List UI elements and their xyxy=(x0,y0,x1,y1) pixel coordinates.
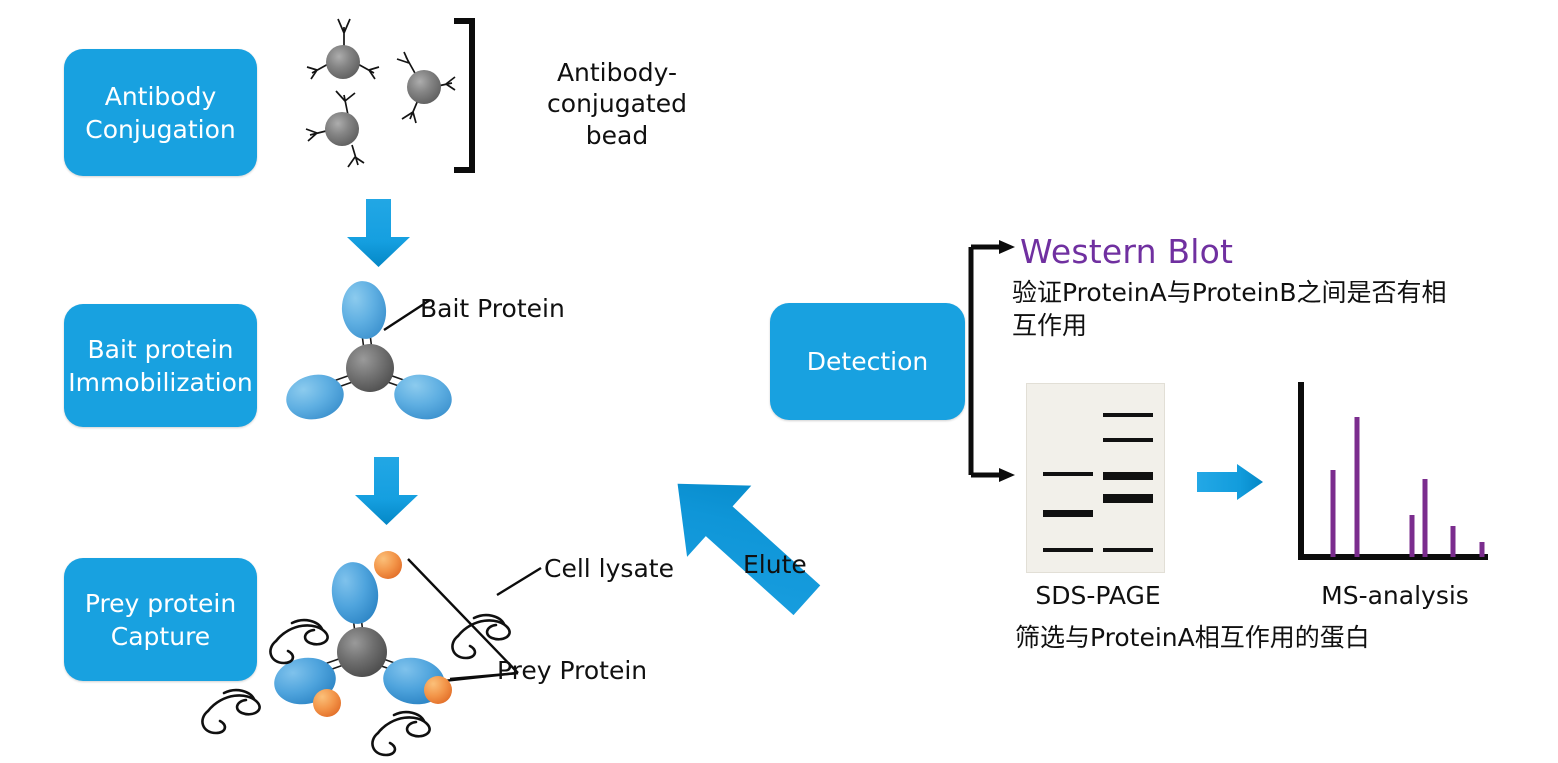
label-sds-page: SDS-PAGE xyxy=(1033,580,1163,611)
step-box-bait-protein-immobilization[interactable]: Bait protein Immobilization xyxy=(64,304,257,427)
squiggle xyxy=(372,712,429,755)
arrow-gel-to-ms xyxy=(1195,462,1267,504)
bead-antibody-3 xyxy=(306,91,364,167)
label-elute: Elute xyxy=(743,549,807,580)
label-bait-protein: Bait Protein xyxy=(420,293,565,324)
step-label: Detection xyxy=(799,345,936,378)
gel-band xyxy=(1043,510,1093,517)
squiggle xyxy=(202,690,259,733)
arrowhead-sds-page xyxy=(999,468,1015,482)
bead-antibody-1 xyxy=(307,19,379,79)
coip-diagram: Antibody Conjugation Bait protein Immobi… xyxy=(0,0,1558,763)
leader-line-cell-lysate xyxy=(495,565,550,600)
prey-protein-dot xyxy=(313,689,341,717)
step-label: Antibody Conjugation xyxy=(77,80,243,146)
prey-protein-dot xyxy=(424,676,452,704)
bait-lobe-left xyxy=(282,369,348,424)
ms-analysis-chart xyxy=(1292,380,1492,570)
sds-page-gel xyxy=(1026,383,1165,573)
step-box-prey-protein-capture[interactable]: Prey protein Capture xyxy=(64,558,257,681)
down-arrow-2 xyxy=(353,455,423,527)
ms-peaks xyxy=(1333,417,1482,557)
gel-band xyxy=(1103,472,1153,480)
detection-branch-connector xyxy=(963,235,1023,485)
gel-band xyxy=(1103,494,1153,503)
step-box-detection[interactable]: Detection xyxy=(770,303,965,420)
squiggle xyxy=(452,615,509,658)
step-label: Prey protein Capture xyxy=(77,587,244,653)
elute-arrow xyxy=(650,440,850,640)
arrowhead-western-blot xyxy=(999,240,1015,254)
step-label: Bait protein Immobilization xyxy=(60,333,260,399)
ms-axes xyxy=(1298,382,1488,560)
down-arrow-1 xyxy=(345,197,415,269)
gel-band xyxy=(1043,472,1093,476)
gel-band xyxy=(1103,548,1153,552)
gel-band xyxy=(1103,438,1153,442)
squiggle xyxy=(270,620,327,663)
bracket-antibody-bead xyxy=(452,18,486,173)
step-box-antibody-conjugation[interactable]: Antibody Conjugation xyxy=(64,49,257,176)
prey-protein-dot xyxy=(374,551,402,579)
bead-antibody-2 xyxy=(397,52,455,123)
label-antibody-conjugated-bead: Antibody-conjugated bead xyxy=(488,57,746,151)
bait-lobe-right xyxy=(390,369,456,424)
label-prey-protein: Prey Protein xyxy=(497,655,647,686)
gel-band xyxy=(1043,548,1093,552)
gel-band xyxy=(1103,413,1153,417)
bead-core xyxy=(346,344,394,392)
detection-bottom-note: 筛选与ProteinA相互作用的蛋白 xyxy=(1015,622,1495,655)
western-blot-title: Western Blot xyxy=(1020,232,1233,271)
western-blot-description: 验证ProteinA与ProteinB之间是否有相互作用 xyxy=(1012,277,1458,342)
label-ms-analysis: MS-analysis xyxy=(1300,580,1490,611)
